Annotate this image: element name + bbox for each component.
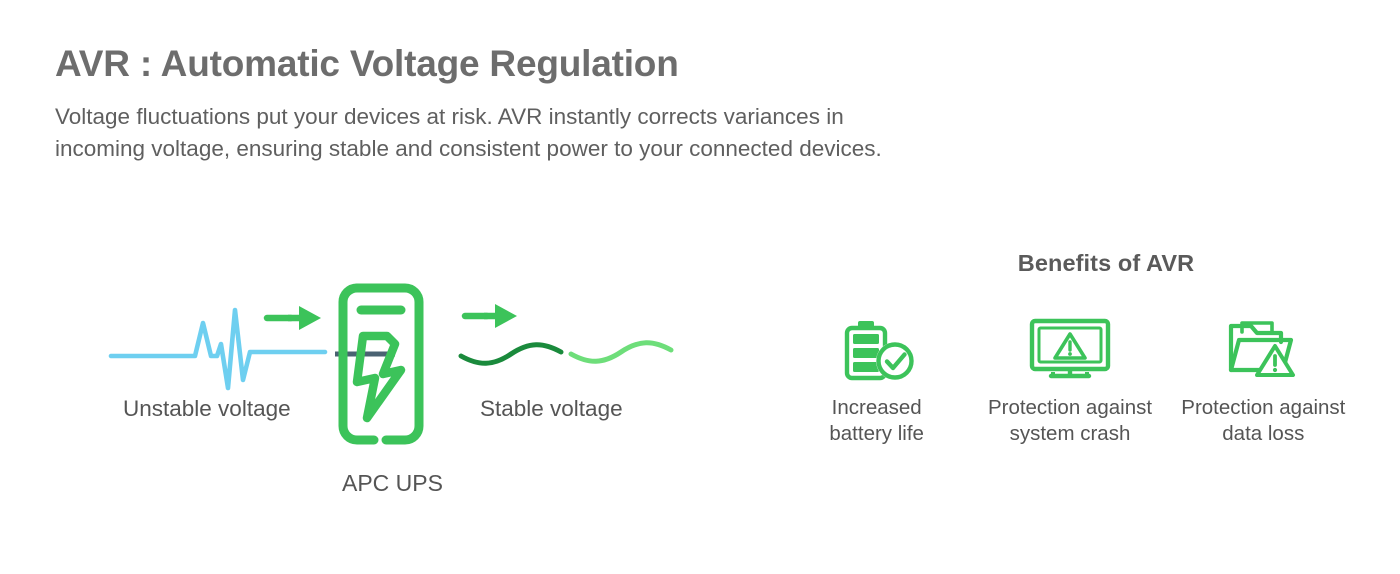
monitor-warning-icon [1029,319,1111,381]
benefit-label: Increased battery life [829,395,924,447]
benefit-label: Protection against data loss [1181,395,1345,447]
voltage-flow-diagram: Unstable voltage Stable voltage APC UPS [95,248,695,518]
folder-warning-icon [1225,319,1301,381]
benefits-heading: Benefits of AVR [780,250,1360,277]
stable-waveform-icon [461,343,671,364]
arrow-right-icon [267,306,321,330]
apc-ups-label: APC UPS [342,470,443,497]
benefits-section: Benefits of AVR [780,250,1360,447]
unstable-voltage-label: Unstable voltage [123,396,291,422]
benefit-label: Protection against system crash [988,395,1152,447]
page-title: AVR : Automatic Voltage Regulation [55,44,1055,85]
infographic-page: AVR : Automatic Voltage Regulation Volta… [0,0,1400,574]
stable-voltage-label: Stable voltage [480,396,623,422]
unstable-waveform-icon [111,310,395,388]
subtitle-line-1: Voltage fluctuations put your devices at… [55,101,985,133]
arrow-right-icon [465,304,517,328]
ups-device-icon [343,288,419,440]
page-subtitle: Voltage fluctuations put your devices at… [55,101,985,165]
benefit-item-protection-data-loss: Protection against data loss [1167,319,1360,447]
benefit-item-increased-battery-life: Increased battery life [780,319,973,447]
benefits-row: Increased battery life [780,319,1360,447]
benefit-item-protection-system-crash: Protection against system crash [973,319,1166,447]
subtitle-line-2: incoming voltage, ensuring stable and co… [55,133,985,165]
battery-check-icon [833,319,921,381]
header: AVR : Automatic Voltage Regulation Volta… [55,44,1055,165]
